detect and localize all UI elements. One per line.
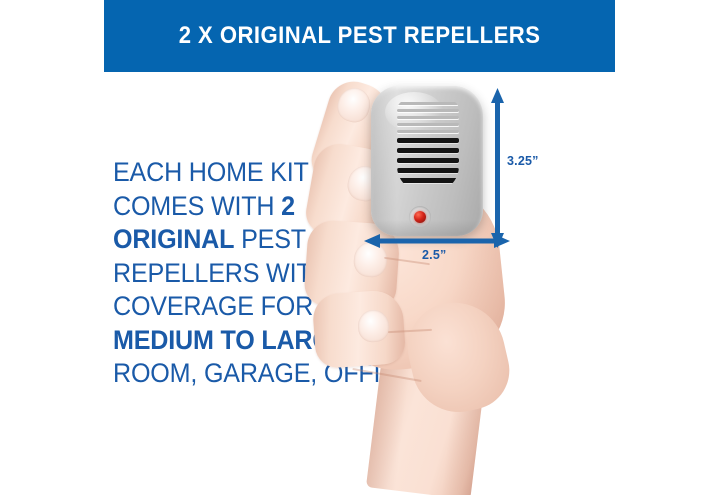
width-dimension-arrow — [364, 234, 510, 248]
copy-line-3-emphasis: ORIGINAL — [113, 224, 234, 254]
height-dimension-arrow — [491, 88, 504, 248]
vent-slat — [397, 102, 459, 105]
vent-slat — [397, 130, 459, 133]
copy-line-2-text: COMES WITH — [113, 191, 281, 221]
vent-slat-deep — [397, 148, 459, 153]
speaker-vent-grille — [397, 100, 459, 192]
vent-slat — [397, 123, 459, 126]
header-banner: 2 X ORIGINAL PEST REPELLERS — [104, 0, 615, 72]
vent-slat-deep — [397, 158, 459, 163]
pest-repeller-device — [371, 86, 483, 236]
height-dimension-label: 3.25” — [507, 154, 539, 168]
width-dimension-label: 2.5” — [422, 248, 446, 262]
product-photo — [292, 74, 592, 495]
vent-slat — [397, 116, 459, 119]
vent-slat-deep — [397, 178, 459, 183]
vent-slat — [397, 109, 459, 112]
product-feature-image: 2 X ORIGINAL PEST REPELLERS EACH HOME KI… — [0, 0, 720, 495]
banner-title: 2 X ORIGINAL PEST REPELLERS — [179, 22, 541, 50]
vent-slat-deep — [397, 138, 459, 143]
copy-line-1-text: EACH HOME KIT — [113, 157, 309, 187]
vent-slat-deep — [397, 168, 459, 173]
